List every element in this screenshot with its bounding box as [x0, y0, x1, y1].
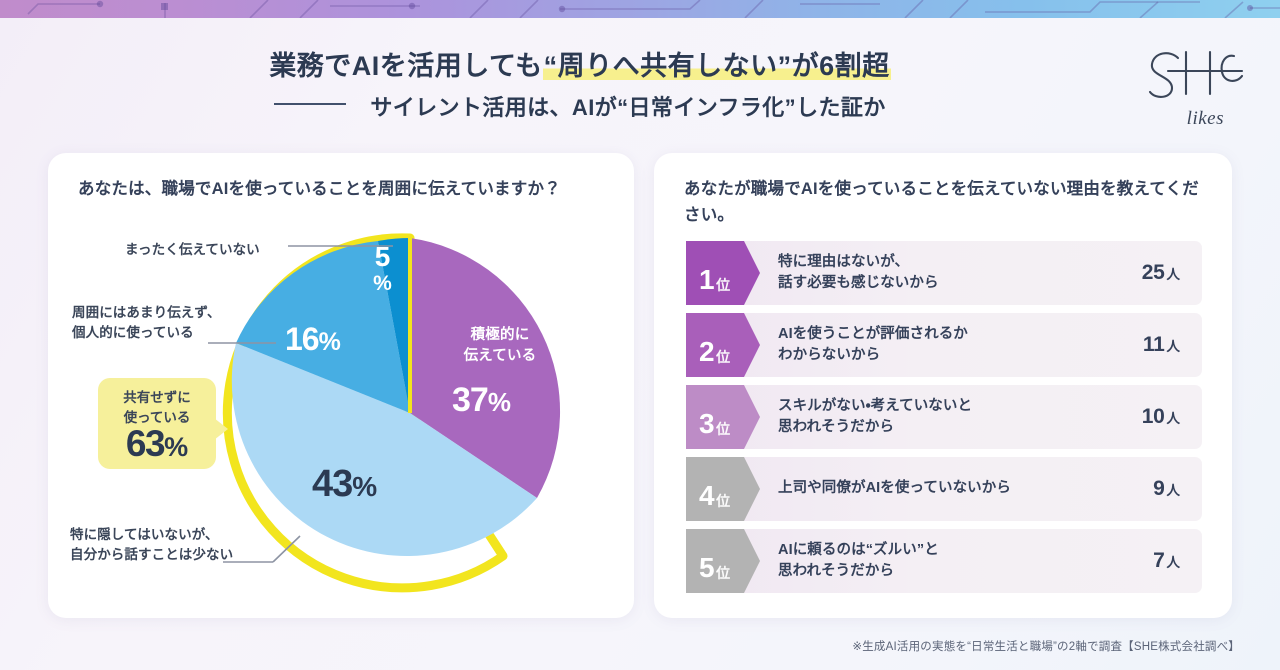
- pie-value-active-num: 37: [452, 381, 488, 419]
- rank-count-value: 7: [1153, 549, 1164, 572]
- callout-value: 63%: [98, 423, 216, 465]
- logo-subtext: likes: [1187, 108, 1224, 130]
- rank-badge: 2位: [686, 313, 760, 377]
- rank-count-value: 25: [1142, 261, 1165, 284]
- pie-chart: まったく伝えていない 周囲にはあまり伝えず、 個人的に使っている 特に隠してはい…: [48, 153, 634, 618]
- rank-count: 9人: [1110, 477, 1202, 501]
- rank-reason-text: スキルがない・考えていないと思われそうだから: [760, 396, 1110, 439]
- pie-value-never-num: 5: [375, 241, 390, 272]
- rank-suffix: 位: [716, 422, 730, 436]
- callout-value-num: 63: [126, 423, 164, 464]
- pie-label-private: 周囲にはあまり伝えず、 個人的に使っている: [72, 303, 221, 344]
- rank-count-value: 9: [1153, 477, 1164, 500]
- rank-reason-line2: わからないから: [778, 345, 1110, 366]
- pie-value-rarely: 43%: [312, 463, 377, 506]
- rank-reason-text: AIに頼るのは“ズルい”と思われそうだから: [760, 540, 1110, 583]
- rank-count-unit: 人: [1167, 339, 1181, 354]
- rank-reason-line1: AIを使うことが評価されるか: [778, 324, 1110, 345]
- rank-suffix: 位: [716, 278, 730, 292]
- pie-caption-active: 積極的に 伝えている: [452, 325, 548, 367]
- pie-value-rarely-num: 43: [312, 463, 352, 505]
- rank-number: 4: [699, 482, 714, 510]
- rank-badge: 3位: [686, 385, 760, 449]
- rank-count-unit: 人: [1167, 555, 1181, 570]
- subtitle-text: サイレント活用は、AIが“日常インフラ化”した証か: [370, 95, 885, 120]
- pie-label-rarely: 特に隠してはいないが、 自分から話すことは少ない: [70, 525, 233, 566]
- pie-caption-active-line1: 積極的に: [452, 325, 548, 346]
- pie-label-private-line1: 周囲にはあまり伝えず、: [72, 303, 221, 323]
- ranking-row[interactable]: 1位特に理由はないが、話す必要も感じないから25人: [686, 241, 1202, 305]
- pie-value-never: 5%: [365, 243, 399, 294]
- callout-label-line1: 共有せずに: [98, 388, 216, 408]
- rank-count: 7人: [1110, 549, 1202, 573]
- shelikes-logo: likes: [1138, 44, 1254, 132]
- rank-reason-text: AIを使うことが評価されるかわからないから: [760, 324, 1110, 367]
- rank-reason-line1: 上司や同僚がAIを使っていないから: [778, 478, 1110, 499]
- rank-number: 1: [699, 266, 714, 294]
- rank-reason-line2: 思われそうだから: [778, 417, 1110, 438]
- rank-reason-line1: 特に理由はないが、: [778, 252, 1110, 273]
- highlight-callout: 共有せずに 使っている 63%: [98, 378, 216, 469]
- subtitle-dash: [274, 103, 346, 105]
- rank-count-value: 10: [1142, 405, 1165, 428]
- top-decorative-band: [0, 0, 1280, 18]
- rank-count: 10人: [1110, 405, 1202, 429]
- footnote: ※生成AI活用の実態を“日常生活と職場”の2軸で調査【SHE株式会社調べ】: [852, 638, 1240, 654]
- pie-value-private: 16%: [285, 321, 341, 358]
- right-question: あなたが職場でAIを使っていることを伝えていない理由を教えてください。: [684, 177, 1202, 228]
- rank-suffix: 位: [716, 566, 730, 580]
- pie-label-never: まったく伝えていない: [125, 240, 260, 260]
- rank-suffix: 位: [716, 350, 730, 364]
- title-highlight: “周りへ共有しない”が6割超: [543, 51, 891, 81]
- rank-count: 11人: [1110, 333, 1202, 357]
- rank-badge: 1位: [686, 241, 760, 305]
- pie-chart-card: あなたは、職場でAIを使っていることを周囲に伝えていますか？ まったく伝えていな: [48, 153, 634, 618]
- title-prefix: 業務でAIを活用しても: [269, 51, 542, 81]
- rank-badge: 5位: [686, 529, 760, 593]
- callout-value-unit: %: [164, 432, 188, 462]
- rank-reason-line1: AIに頼るのは“ズルい”と: [778, 540, 1110, 561]
- callout-label: 共有せずに 使っている: [98, 388, 216, 427]
- pie-value-active: 37%: [452, 381, 511, 420]
- rank-badge: 4位: [686, 457, 760, 521]
- rank-reason-line1: スキルがない・考えていないと: [778, 396, 1110, 417]
- rank-reason-line2: 思われそうだから: [778, 561, 1110, 582]
- rank-reason-text: 特に理由はないが、話す必要も感じないから: [760, 252, 1110, 295]
- rank-suffix: 位: [716, 494, 730, 508]
- page-subtitle: サイレント活用は、AIが“日常インフラ化”した証か: [0, 90, 1160, 122]
- ranking-list: 1位特に理由はないが、話す必要も感じないから25人2位AIを使うことが評価される…: [686, 241, 1202, 601]
- ranking-row[interactable]: 3位スキルがない・考えていないと思われそうだから10人: [686, 385, 1202, 449]
- rank-count-unit: 人: [1167, 267, 1181, 282]
- rank-number: 5: [699, 554, 714, 582]
- rank-count-unit: 人: [1167, 411, 1181, 426]
- rank-count: 25人: [1110, 261, 1202, 285]
- rank-reason-line2: 話す必要も感じないから: [778, 273, 1110, 294]
- page-title: 業務でAIを活用しても“周りへ共有しない”が6割超: [0, 44, 1160, 83]
- pie-label-rarely-line2: 自分から話すことは少ない: [70, 545, 233, 565]
- pie-caption-active-line2: 伝えている: [452, 346, 548, 367]
- ranking-row[interactable]: 5位AIに頼るのは“ズルい”と思われそうだから7人: [686, 529, 1202, 593]
- pie-label-rarely-line1: 特に隠してはいないが、: [70, 525, 233, 545]
- pie-label-private-line2: 個人的に使っている: [72, 323, 221, 343]
- rank-number: 2: [699, 338, 714, 366]
- rank-count-unit: 人: [1167, 483, 1181, 498]
- rank-number: 3: [699, 410, 714, 438]
- rank-count-value: 11: [1143, 333, 1165, 356]
- page-header: 業務でAIを活用しても“周りへ共有しない”が6割超 サイレント活用は、AIが“日…: [0, 18, 1280, 150]
- pie-value-private-num: 16: [285, 321, 319, 357]
- ranking-row[interactable]: 2位AIを使うことが評価されるかわからないから11人: [686, 313, 1202, 377]
- rank-reason-text: 上司や同僚がAIを使っていないから: [760, 478, 1110, 499]
- ranking-row[interactable]: 4位上司や同僚がAIを使っていないから9人: [686, 457, 1202, 521]
- ranking-card: あなたが職場でAIを使っていることを伝えていない理由を教えてください。 1位特に…: [654, 153, 1232, 618]
